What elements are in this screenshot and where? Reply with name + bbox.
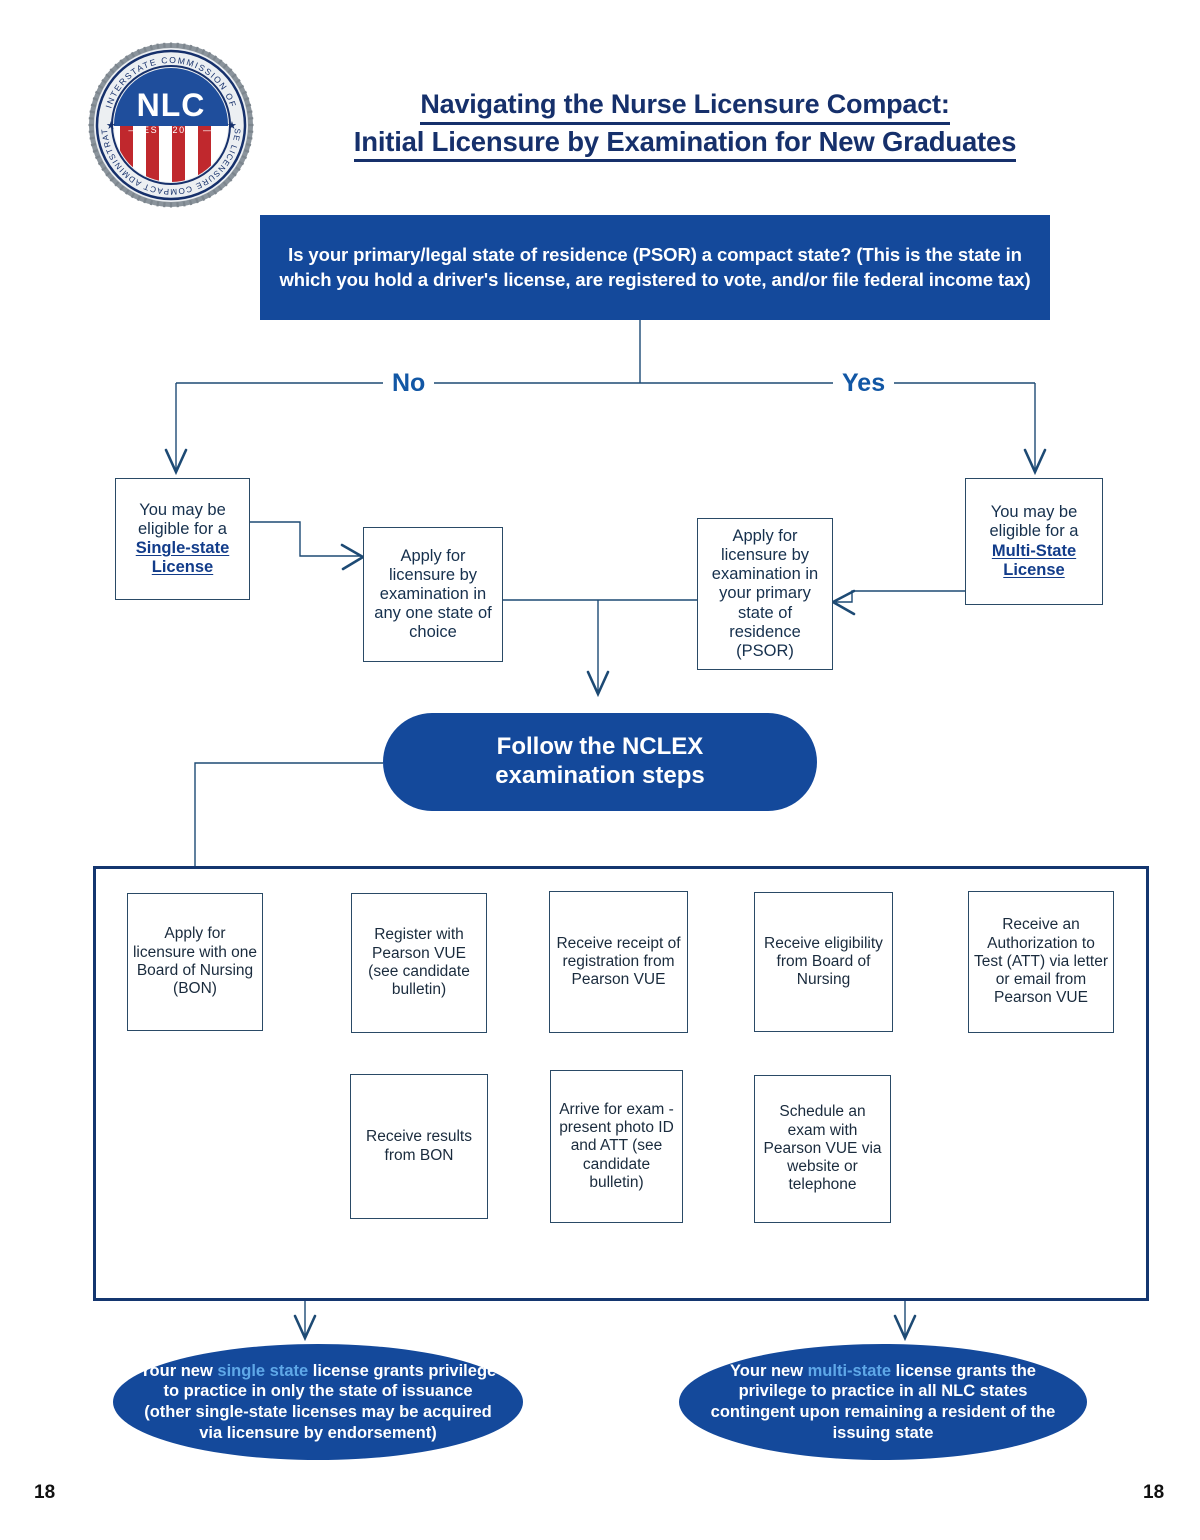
step-schedule-exam-label: Schedule an exam with Pearson VUE via we…: [759, 1103, 886, 1194]
svg-text:★: ★: [106, 120, 116, 132]
multi-state-lead: You may be eligible for a: [990, 503, 1079, 540]
step-receive-authorization-to-test-label: Receive an Authorization to Test (ATT) v…: [973, 916, 1109, 1007]
title-line-1: Navigating the Nurse Licensure Compact:: [420, 88, 949, 125]
step-apply-bon-label: Apply for licensure with one Board of Nu…: [132, 925, 258, 998]
step-register-pearson-vue-label: Register with Pearson VUE (see candidate…: [356, 926, 482, 999]
nclex-pill-line-2: examination steps: [495, 762, 704, 789]
step-receive-authorization-to-test: Receive an Authorization to Test (ATT) v…: [968, 891, 1114, 1033]
step-arrive-for-exam-label: Arrive for exam - present photo ID and A…: [555, 1101, 678, 1192]
step-register-pearson-vue: Register with Pearson VUE (see candidate…: [351, 893, 487, 1033]
decision-question-box: Is your primary/legal state of residence…: [260, 215, 1050, 320]
step-receive-eligibility: Receive eligibility from Board of Nursin…: [754, 892, 893, 1032]
decision-question-text: Is your primary/legal state of residence…: [278, 243, 1032, 293]
svg-text:— EST. 2000 —: — EST. 2000 —: [128, 125, 213, 135]
step-receive-eligibility-label: Receive eligibility from Board of Nursin…: [759, 935, 888, 990]
apply-any-state-box: Apply for licensure by examination in an…: [363, 527, 503, 662]
multi-state-eligibility-box: You may be eligible for a Multi-State Li…: [965, 478, 1103, 605]
step-schedule-exam: Schedule an exam with Pearson VUE via we…: [754, 1075, 891, 1223]
step-receive-results-label: Receive results from BON: [355, 1128, 483, 1165]
nclex-pill-line-1: Follow the NCLEX: [497, 733, 704, 760]
branch-label-yes: Yes: [833, 369, 894, 398]
outcome-single-part1: Your new: [140, 1362, 218, 1380]
nlc-seal-logo: NLC — EST. 2000 — INTERSTATE COMMISSION …: [86, 40, 256, 210]
step-arrive-for-exam: Arrive for exam - present photo ID and A…: [550, 1070, 683, 1223]
outcome-multi-state-pill: Your new multi-state license grants the …: [679, 1344, 1087, 1460]
outcome-single-highlight: single state: [217, 1362, 308, 1380]
outcome-multi-part1: Your new: [730, 1362, 808, 1380]
single-state-eligibility-box: You may be eligible for a Single-state L…: [115, 478, 250, 600]
step-receive-results: Receive results from BON: [350, 1074, 488, 1219]
page-number-left: 18: [34, 1482, 55, 1504]
svg-text:NLC: NLC: [137, 87, 206, 123]
apply-psor-box: Apply for licensure by examination in yo…: [697, 518, 833, 670]
page-title: Navigating the Nurse Licensure Compact: …: [250, 88, 1120, 162]
outcome-multi-highlight: multi-state: [808, 1362, 891, 1380]
page-number-right: 18: [1143, 1482, 1164, 1504]
flowchart-canvas: NLC — EST. 2000 — INTERSTATE COMMISSION …: [0, 0, 1200, 1540]
svg-text:★: ★: [227, 120, 237, 132]
step-receive-registration-receipt: Receive receipt of registration from Pea…: [549, 891, 688, 1033]
branch-label-no: No: [383, 369, 434, 398]
single-state-lead: You may be eligible for a: [138, 501, 227, 538]
step-receive-registration-receipt-label: Receive receipt of registration from Pea…: [554, 935, 683, 990]
single-state-emphasis: Single-state License: [136, 539, 230, 576]
step-apply-bon: Apply for licensure with one Board of Nu…: [127, 893, 263, 1031]
multi-state-emphasis: Multi-State License: [992, 542, 1076, 579]
follow-nclex-steps-pill: Follow the NCLEXexamination steps: [383, 713, 817, 811]
outcome-single-state-pill: Your new single state license grants pri…: [113, 1344, 523, 1460]
apply-any-state-text: Apply for licensure by examination in an…: [369, 547, 497, 643]
title-line-2: Initial Licensure by Examination for New…: [354, 125, 1016, 163]
apply-psor-text: Apply for licensure by examination in yo…: [703, 527, 827, 661]
